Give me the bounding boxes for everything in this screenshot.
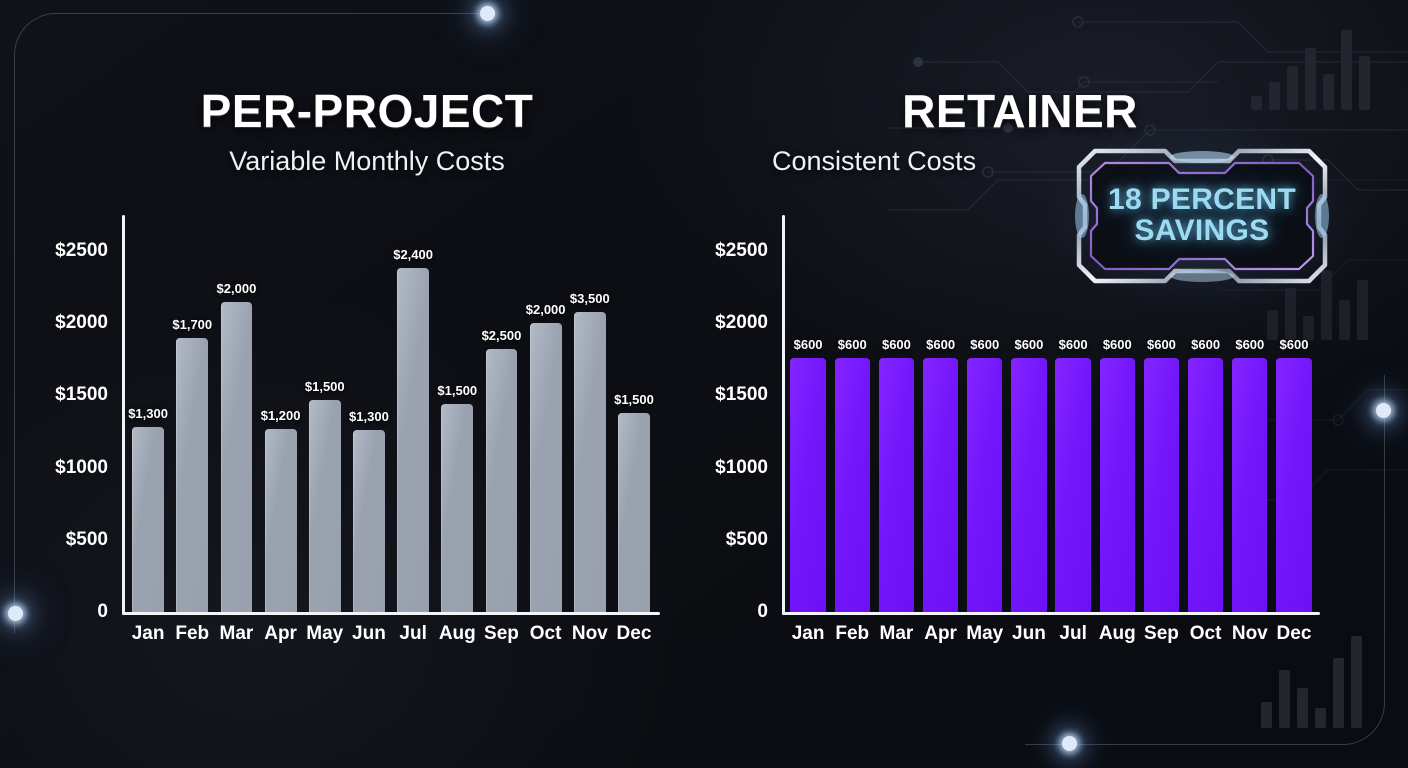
bar-column: $600 [1007,215,1051,612]
bar: $600 [1232,358,1267,612]
left-chart-y-axis-line [122,215,125,615]
ghost-bar [1261,702,1272,728]
right-chart-ytick-4: $500 [726,529,768,551]
x-axis-label: Feb [170,623,214,645]
bar-value-label: $2,000 [217,281,257,296]
bar-value-label: $600 [838,337,867,352]
bar: $600 [790,358,825,612]
bar-column: $1,700 [170,215,214,612]
x-axis-label: Jul [1051,623,1095,645]
bar-value-label: $600 [1147,337,1176,352]
bar-value-label: $600 [1191,337,1220,352]
left-panel-title: PER-PROJECT [112,84,622,138]
left-chart-ytick-0: $2500 [55,240,108,262]
bar-value-label: $2,000 [526,302,566,317]
badge-line-1: 18 PERCENT [1108,185,1296,216]
bar: $600 [967,358,1002,612]
bar-value-label: $1,500 [305,379,345,394]
bar: $2,000 [221,302,253,612]
left-panel-subtitle: Variable Monthly Costs [112,146,622,177]
bar-column: $1,500 [612,215,656,612]
left-chart-plot-area: $1,300$1,700$2,000$1,200$1,500$1,300$2,4… [122,215,660,615]
bar-value-label: $1,700 [172,317,212,332]
bar: $2,400 [397,268,429,612]
x-axis-label: Mar [214,623,258,645]
bar-value-label: $600 [882,337,911,352]
bar: $1,500 [618,413,650,612]
bar-value-label: $600 [1280,337,1309,352]
left-chart-ytick-3: $1000 [55,457,108,479]
bar-value-label: $2,400 [393,247,433,262]
x-axis-label: May [303,623,347,645]
left-chart-ytick-4: $500 [66,529,108,551]
x-axis-label: May [963,623,1007,645]
glow-node-right [1376,403,1391,418]
x-axis-label: Oct [524,623,568,645]
savings-badge: 18 PERCENT SAVINGS [1073,145,1331,287]
x-axis-label: Jan [126,623,170,645]
bar-value-label: $2,500 [482,328,522,343]
ghost-bar [1315,708,1326,728]
badge-line-2: SAVINGS [1135,216,1270,247]
bar: $1,700 [176,338,208,612]
glow-node-bottom [1062,736,1077,751]
badge-text: 18 PERCENT SAVINGS [1073,145,1331,287]
bar-column: $1,200 [259,215,303,612]
bar: $600 [1011,358,1046,612]
bar: $600 [1144,358,1179,612]
per-project-bar-chart: $2500$2000$1500$1000$5000 $1,300$1,700$2… [40,215,660,650]
bar-value-label: $1,500 [614,392,654,407]
right-chart-ytick-1: $2000 [715,312,768,334]
right-chart-x-axis-line [782,612,1320,615]
bar: $600 [1055,358,1090,612]
bar-value-label: $600 [1103,337,1132,352]
bar: $2,000 [530,323,562,612]
x-axis-label: Nov [1228,623,1272,645]
right-chart-ytick-5: 0 [757,601,768,623]
bar: $3,500 [574,312,606,612]
bar-column: $600 [786,215,830,612]
ghost-bar [1333,658,1344,728]
x-axis-label: Apr [919,623,963,645]
right-chart-y-axis-line [782,215,785,615]
x-axis-label: Dec [612,623,656,645]
left-chart-ytick-2: $1500 [55,384,108,406]
bar-column: $3,500 [568,215,612,612]
bar-column: $1,500 [435,215,479,612]
bar-column: $600 [919,215,963,612]
bar: $1,300 [353,430,385,612]
bar: $1,200 [265,429,297,612]
left-panel-heading: PER-PROJECT Variable Monthly Costs [112,84,622,177]
bar-column: $1,300 [126,215,170,612]
x-axis-label: Feb [830,623,874,645]
bar-value-label: $600 [1014,337,1043,352]
x-axis-label: Jul [391,623,435,645]
bar-column: $2,400 [391,215,435,612]
bar: $1,500 [441,404,473,612]
bar-value-label: $600 [926,337,955,352]
ghost-bar [1297,688,1308,728]
bar-column: $2,500 [479,215,523,612]
x-axis-label: Aug [1095,623,1139,645]
glow-node-left [8,606,23,621]
bar-value-label: $600 [794,337,823,352]
x-axis-label: Jan [786,623,830,645]
left-chart-x-axis-line [122,612,660,615]
bar-value-label: $1,300 [128,406,168,421]
x-axis-label: Apr [259,623,303,645]
bar-value-label: $1,300 [349,409,389,424]
x-axis-label: Aug [435,623,479,645]
bar-column: $1,300 [347,215,391,612]
left-chart-y-axis-labels: $2500$2000$1500$1000$5000 [40,215,118,615]
x-axis-label: Sep [1139,623,1183,645]
bar-column: $2,000 [214,215,258,612]
x-axis-label: Jun [347,623,391,645]
bar-value-label: $600 [1235,337,1264,352]
bar-value-label: $600 [970,337,999,352]
right-chart-ytick-2: $1500 [715,384,768,406]
bar: $1,300 [132,427,164,612]
left-chart-bars: $1,300$1,700$2,000$1,200$1,500$1,300$2,4… [126,215,656,612]
bar-column: $2,000 [524,215,568,612]
ghost-bar [1357,280,1368,340]
bar: $1,500 [309,400,341,612]
bar-value-label: $3,500 [570,291,610,306]
right-chart-y-axis-labels: $2500$2000$1500$1000$5000 [700,215,778,615]
bar: $600 [879,358,914,612]
x-axis-label: Oct [1184,623,1228,645]
ghost-bar [1279,670,1290,728]
bar: $600 [835,358,870,612]
infographic-canvas: PER-PROJECT Variable Monthly Costs RETAI… [0,0,1408,768]
x-axis-label: Mar [874,623,918,645]
bar-column: $600 [830,215,874,612]
right-chart-x-axis-labels: JanFebMarAprMayJunJulAugSepOctNovDec [786,618,1316,650]
bar: $600 [1276,358,1311,612]
bar: $600 [1188,358,1223,612]
bar-value-label: $1,500 [437,383,477,398]
bar-column: $1,500 [303,215,347,612]
x-axis-label: Jun [1007,623,1051,645]
bar: $600 [1100,358,1135,612]
left-chart-ytick-1: $2000 [55,312,108,334]
right-chart-ytick-3: $1000 [715,457,768,479]
left-chart-ytick-5: 0 [97,601,108,623]
bar: $2,500 [486,349,518,612]
x-axis-label: Dec [1272,623,1316,645]
right-chart-ytick-0: $2500 [715,240,768,262]
bar-value-label: $1,200 [261,408,301,423]
x-axis-label: Nov [568,623,612,645]
ghost-bar [1351,636,1362,728]
left-chart-x-axis-labels: JanFebMarAprMayJunJulAugSepOctNovDec [126,618,656,650]
bar-column: $600 [874,215,918,612]
x-axis-label: Sep [479,623,523,645]
bar-value-label: $600 [1059,337,1088,352]
bar: $600 [923,358,958,612]
bar-column: $600 [963,215,1007,612]
glow-node-top [480,6,495,21]
